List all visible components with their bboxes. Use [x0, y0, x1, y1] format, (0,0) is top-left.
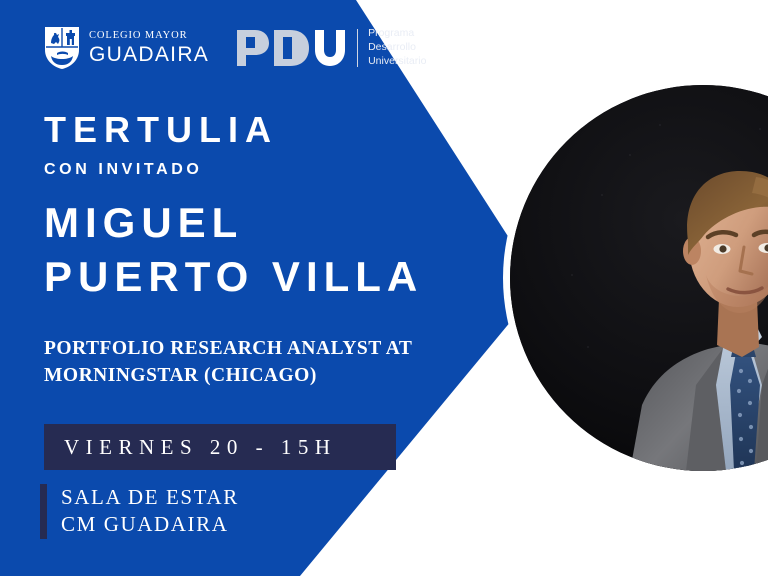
pdu-line3: Universitario — [368, 55, 426, 69]
speaker-last-name: PUERTO VILLA — [44, 250, 423, 304]
event-venue-block: SALA DE ESTAR CM GUADAIRA — [40, 484, 239, 539]
colegio-mayor-guadaira-logo: COLEGIO MAYOR GUADAIRA — [44, 26, 209, 70]
pdu-monogram-icon — [235, 28, 347, 68]
speaker-portrait-image — [510, 85, 768, 471]
guadaira-line2: GUADAIRA — [89, 44, 209, 65]
pdu-line2: Desarrollo — [368, 41, 426, 55]
venue-lines: SALA DE ESTAR CM GUADAIRA — [61, 484, 239, 539]
colegio-mayor-shield-icon — [44, 26, 80, 70]
event-poster: COLEGIO MAYOR GUADAIRA Programa Desarrol… — [0, 0, 768, 576]
headline-block: TERTULIA CON INVITADO — [44, 112, 278, 178]
speaker-photo — [510, 85, 768, 471]
speaker-role-line2: MORNINGSTAR (CHICAGO) — [44, 363, 464, 390]
logo-row: COLEGIO MAYOR GUADAIRA Programa Desarrol… — [44, 26, 426, 70]
venue-line2: CM GUADAIRA — [61, 511, 239, 538]
speaker-name-block: MIGUEL PUERTO VILLA — [44, 196, 423, 304]
pdu-line1: Programa — [368, 27, 426, 41]
event-datetime-bar: VIERNES 20 - 15H — [44, 424, 396, 470]
poster-subtitle: CON INVITADO — [44, 162, 278, 178]
guadaira-line1: COLEGIO MAYOR — [89, 31, 209, 42]
guadaira-wordmark: COLEGIO MAYOR GUADAIRA — [89, 31, 209, 65]
speaker-first-name: MIGUEL — [44, 196, 423, 250]
event-datetime-text: VIERNES 20 - 15H — [64, 435, 337, 460]
poster-title: TERTULIA — [44, 112, 278, 148]
venue-line1: SALA DE ESTAR — [61, 484, 239, 511]
venue-accent-rule — [40, 484, 47, 539]
pdu-divider — [357, 29, 358, 67]
pdu-tagline: Programa Desarrollo Universitario — [368, 27, 426, 69]
pdu-logo: Programa Desarrollo Universitario — [235, 27, 426, 69]
speaker-role-block: PORTFOLIO RESEARCH ANALYST AT MORNINGSTA… — [44, 336, 464, 389]
speaker-role-line1: PORTFOLIO RESEARCH ANALYST AT — [44, 336, 464, 363]
